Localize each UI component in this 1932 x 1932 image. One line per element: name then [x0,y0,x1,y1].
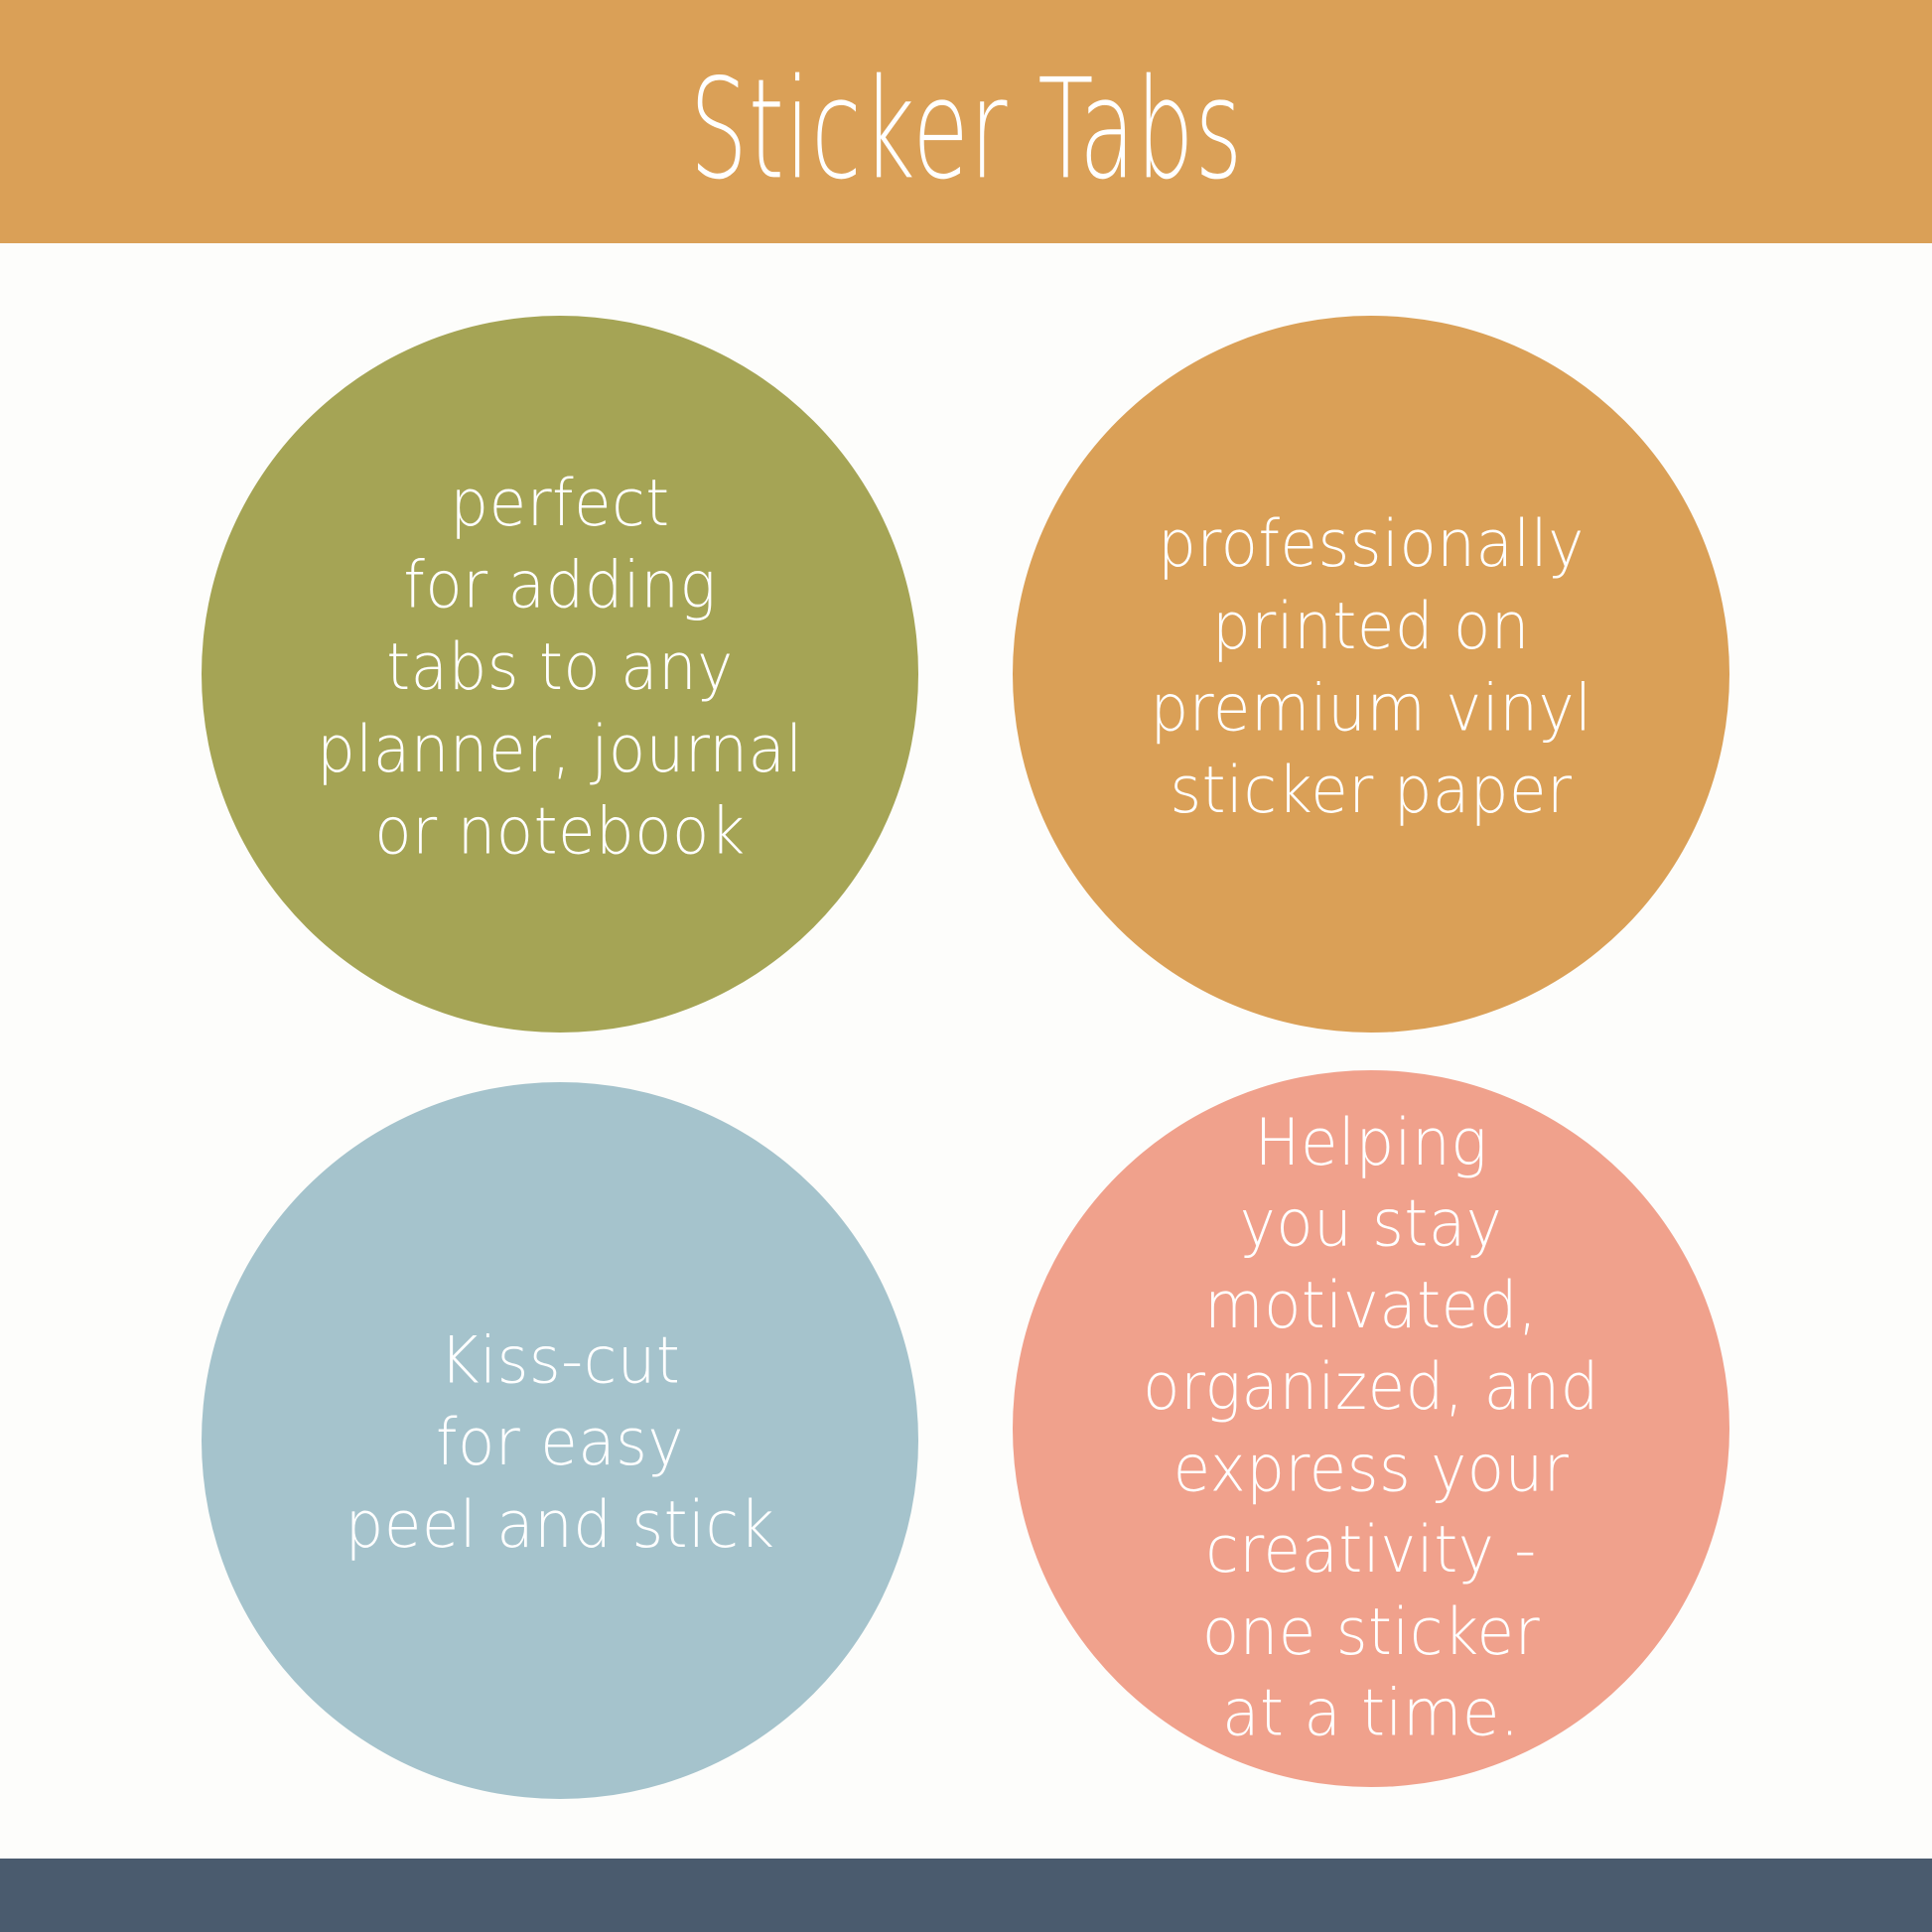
feature-circle-orange-text: professionally printed on premium vinyl … [1150,503,1591,832]
feature-circle-pink: Helping you stay motivated, organized, a… [1013,1070,1729,1787]
feature-circle-blue: Kiss-cut for easy peel and stick [202,1082,918,1799]
sticker-tabs-infographic: Sticker Tabs perfect for adding tabs to … [0,0,1932,1932]
feature-circle-orange: professionally printed on premium vinyl … [1013,316,1729,1033]
feature-circle-green: perfect for adding tabs to any planner, … [202,316,918,1033]
feature-circle-green-text: perfect for adding tabs to any planner, … [317,463,803,874]
header-bar: Sticker Tabs [0,0,1932,243]
feature-circle-pink-text: Helping you stay motivated, organized, a… [1143,1103,1599,1755]
feature-circle-blue-text: Kiss-cut for easy peel and stick [345,1320,775,1567]
footer-bar [0,1859,1932,1932]
page-title: Sticker Tabs [689,60,1243,198]
